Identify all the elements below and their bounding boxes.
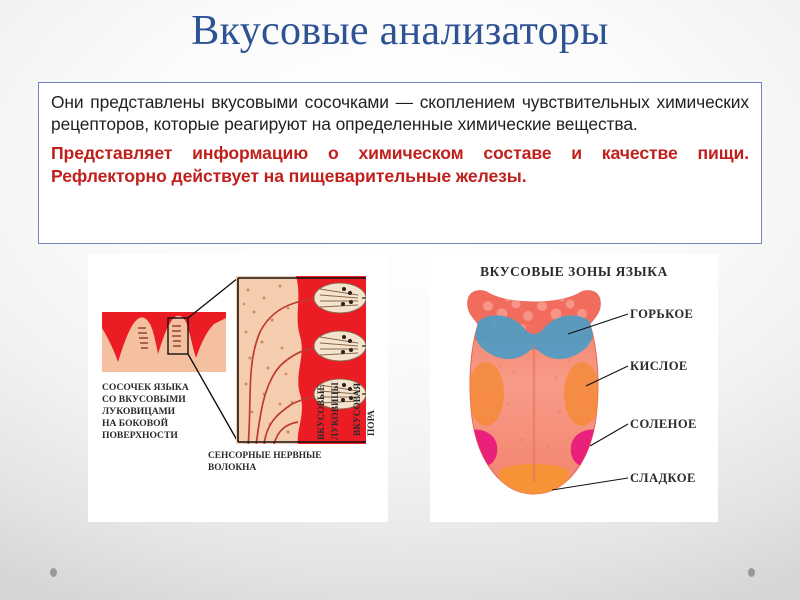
taste-pore-line-2: ПОРА	[367, 410, 377, 436]
figure-taste-papilla: СОСОЧЕК ЯЗЫКА СО ВКУСОВЫМИ ЛУКОВИЦАМИ НА…	[88, 254, 388, 522]
tongue-figure-title: ВКУСОВЫЕ ЗОНЫ ЯЗЫКА	[480, 264, 668, 279]
decorative-dot-left	[50, 568, 57, 577]
papilla-caption-line-4: НА БОКОВОЙ	[102, 417, 169, 429]
papilla-overview	[102, 312, 226, 372]
zone-label-sour: КИСЛОЕ	[630, 359, 688, 373]
papilla-caption: СОСОЧЕК ЯЗЫКА СО ВКУСОВЫМИ ЛУКОВИЦАМИ НА…	[102, 382, 189, 441]
tongue-zones-svg: ВКУСОВЫЕ ЗОНЫ ЯЗЫКА	[430, 254, 718, 522]
taste-buds-line-2: ЛУКОВИЦЫ	[331, 381, 341, 440]
figure-tongue-zones: ВКУСОВЫЕ ЗОНЫ ЯЗЫКА	[430, 254, 718, 522]
taste-pore-line-1: ВКУСОВАЯ	[353, 383, 363, 436]
paragraph-function: Представляет информацию о химическом сос…	[51, 142, 749, 188]
nerve-fibers-caption: СЕНСОРНЫЕ НЕРВНЫЕ ВОЛОКНА	[208, 451, 321, 473]
taste-buds-line-1: ВКУСОВЫЕ	[317, 384, 327, 440]
papilla-caption-line-5: ПОВЕРХНОСТИ	[102, 430, 178, 441]
page-title: Вкусовые анализаторы	[40, 8, 760, 55]
zone-sour-left	[468, 362, 504, 426]
papilla-caption-line-3: ЛУКОВИЦАМИ	[102, 406, 176, 417]
paragraph-definition: Они представлены вкусовыми сосочками — с…	[51, 91, 749, 136]
content-text-box: Они представлены вкусовыми сосочками — с…	[38, 82, 762, 244]
zone-labels: ГОРЬКОЕ КИСЛОЕ СОЛЕНОЕ СЛАДКОЕ	[630, 307, 697, 485]
nerve-caption-line-2: ВОЛОКНА	[208, 463, 256, 473]
zone-label-sweet: СЛАДКОЕ	[630, 471, 696, 485]
zone-sour-right	[564, 362, 600, 426]
nerve-caption-line-1: СЕНСОРНЫЕ НЕРВНЫЕ	[208, 451, 321, 461]
papilla-caption-line-2: СО ВКУСОВЫМИ	[102, 394, 186, 405]
papilla-caption-line-1: СОСОЧЕК ЯЗЫКА	[102, 382, 189, 393]
zone-label-salty: СОЛЕНОЕ	[630, 417, 697, 431]
zone-label-bitter: ГОРЬКОЕ	[630, 307, 693, 321]
taste-papilla-svg: СОСОЧЕК ЯЗЫКА СО ВКУСОВЫМИ ЛУКОВИЦАМИ НА…	[88, 254, 388, 522]
tongue-illustration	[468, 290, 601, 498]
decorative-dot-right	[748, 568, 755, 577]
